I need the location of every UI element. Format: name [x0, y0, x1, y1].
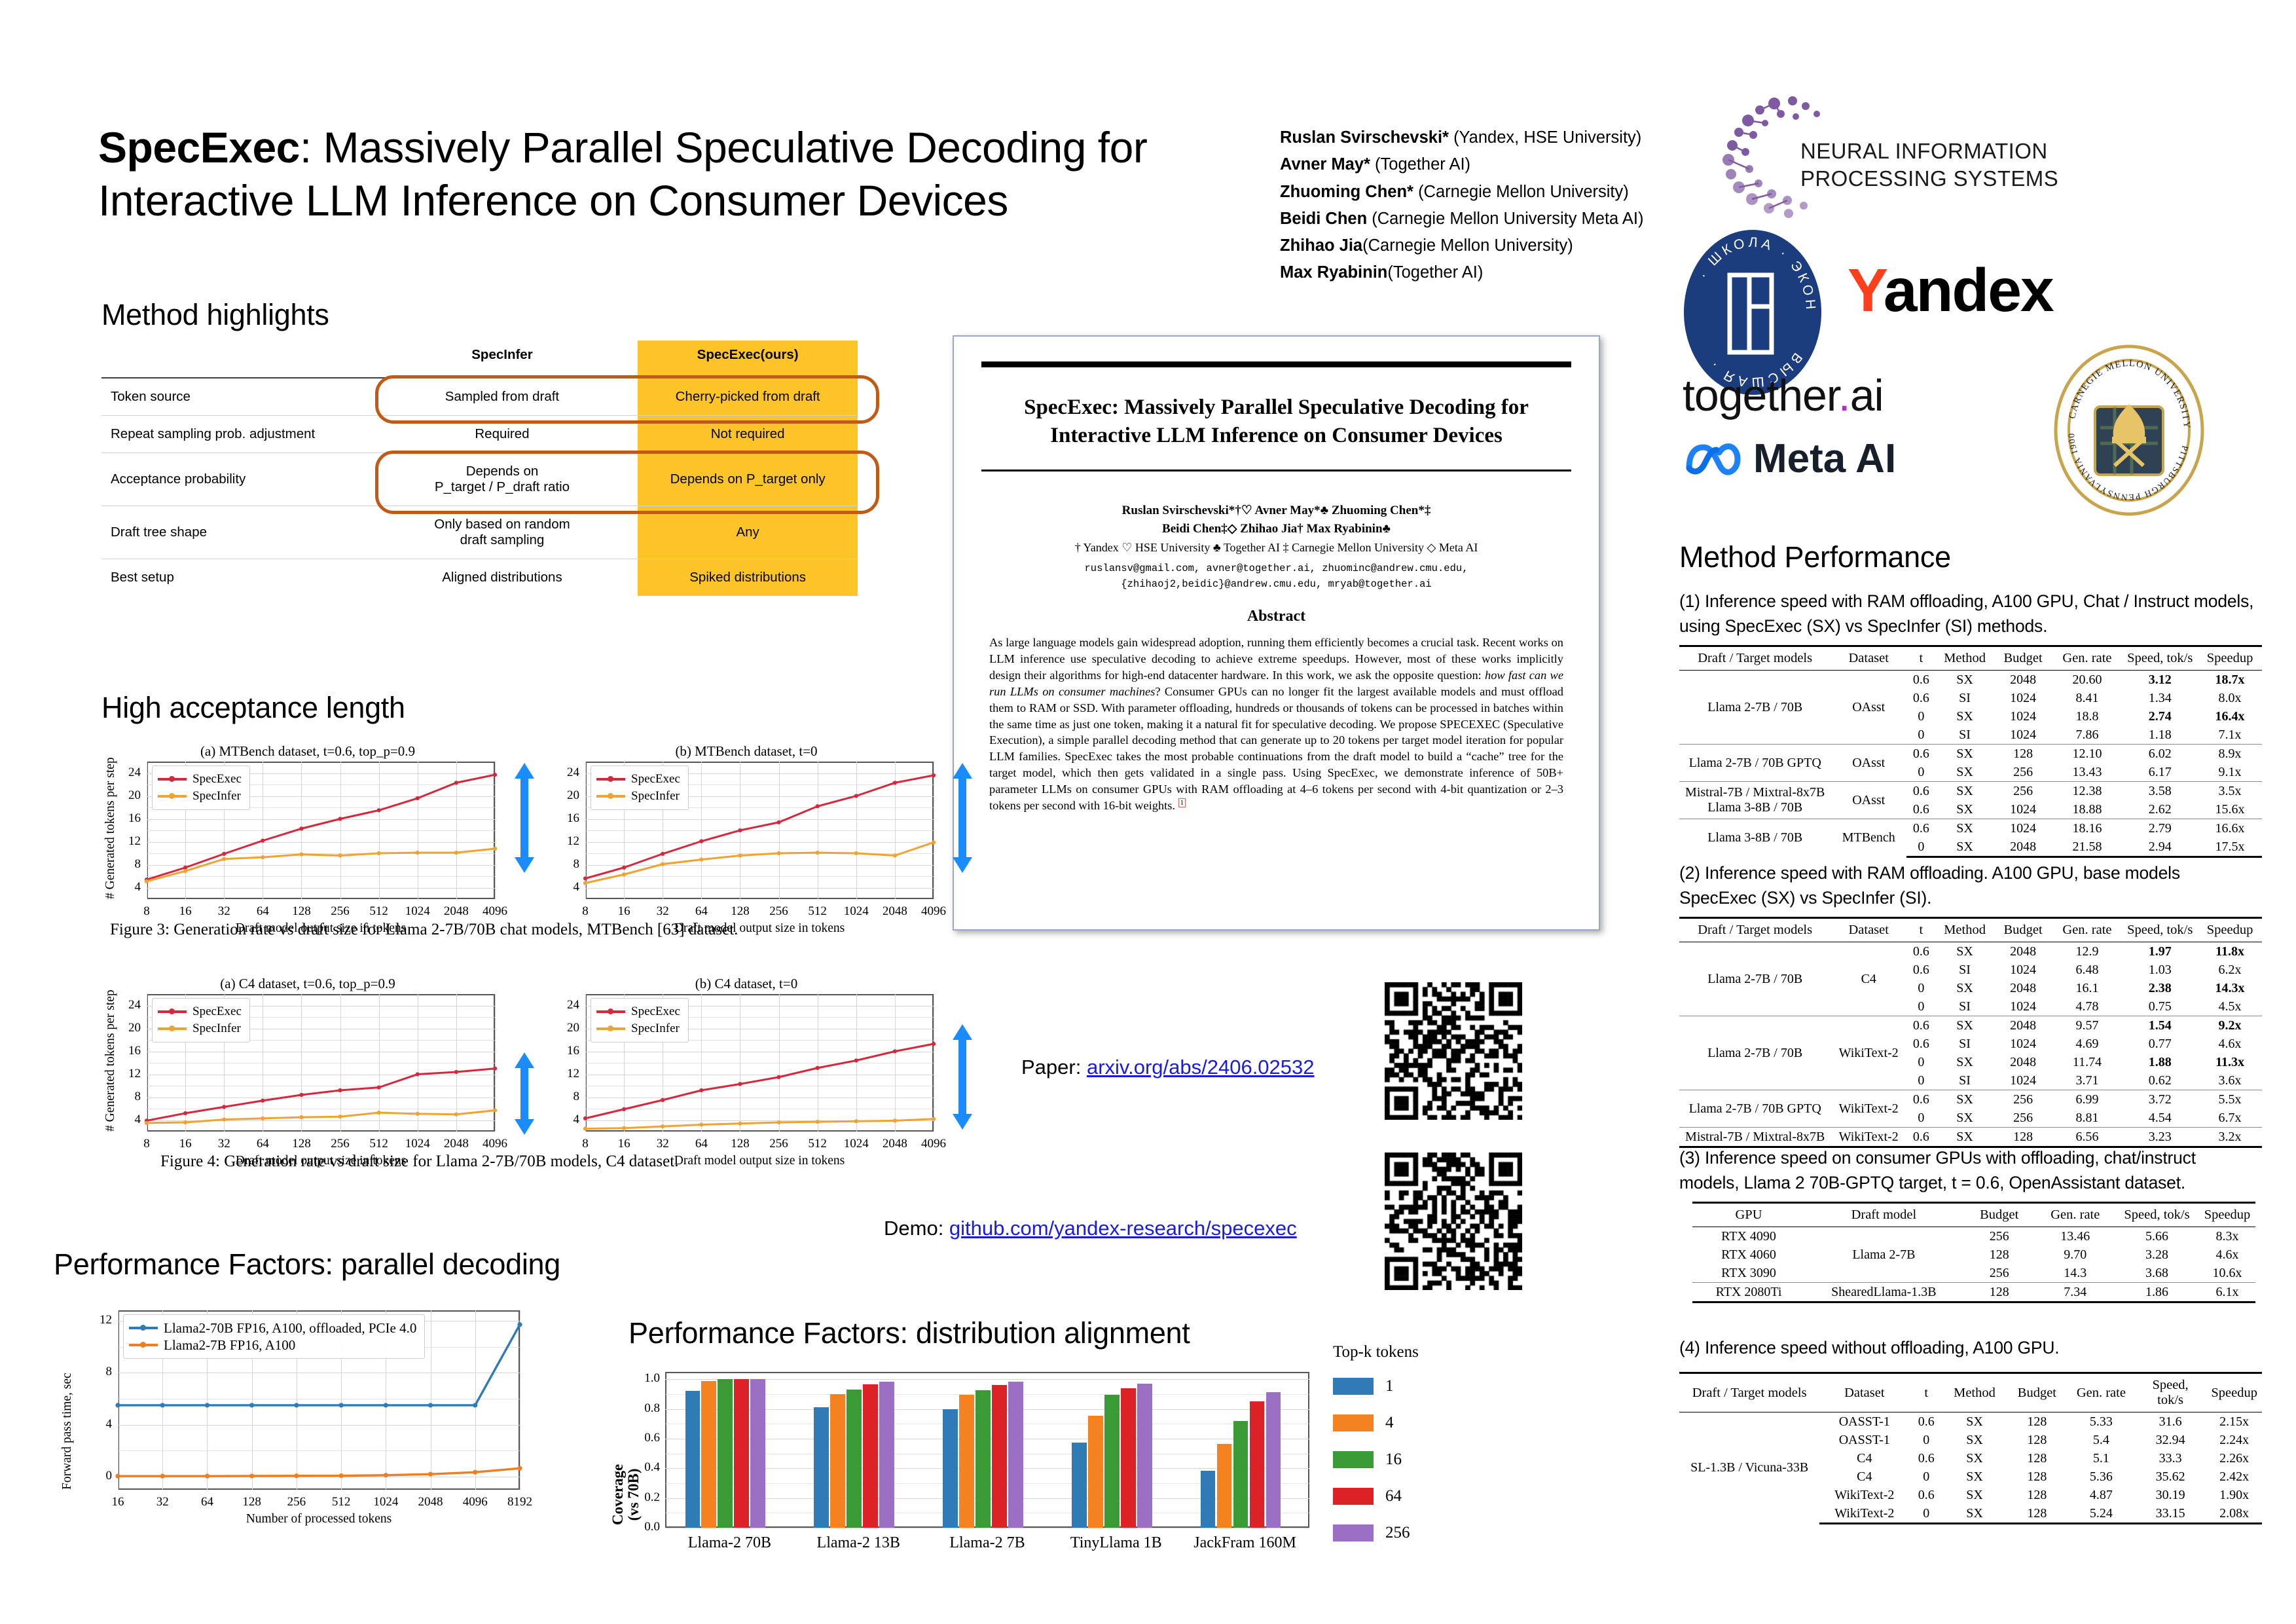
- y-axis-label: Coverage(vs 70B): [610, 1464, 642, 1525]
- column-header: Draft / Target models: [1679, 918, 1831, 942]
- chart-title: (b) C4 dataset, t=0: [550, 976, 943, 992]
- gridline: [934, 762, 934, 899]
- column-header: Speedup: [2198, 646, 2262, 671]
- performance-table: Draft / Target modelsDatasettMethodBudge…: [1679, 917, 2262, 1148]
- gridline: [456, 762, 457, 899]
- gridline: [818, 994, 818, 1132]
- gen-cell: 8.81: [2052, 1109, 2123, 1128]
- speed-cell: 3.28: [2115, 1246, 2199, 1264]
- legend-item: SpecInfer: [596, 788, 680, 805]
- t-cell: 0.6: [1906, 671, 1936, 690]
- speed-cell: 3.68: [2115, 1264, 2199, 1283]
- speed-cell: 2.74: [2122, 707, 2198, 726]
- gridline-minor: [585, 1063, 934, 1063]
- budget-cell: 1024: [1994, 800, 2052, 819]
- model-cell: Llama 2-7B / 70B GPTQ: [1679, 1090, 1831, 1128]
- model-cell: Llama 2-7B / 70B: [1679, 942, 1831, 1016]
- x-tick-label: 256: [758, 1137, 800, 1151]
- method-performance-caption-3: (3) Inference speed on consumer GPUs wit…: [1679, 1146, 2255, 1195]
- gridline-minor: [118, 1399, 520, 1399]
- t-cell: 0.6: [1906, 800, 1936, 819]
- gridline: [379, 762, 380, 899]
- y-tick-label: 16: [550, 1044, 579, 1058]
- x-tick-label: 128: [231, 1495, 273, 1509]
- x-tick-label: Llama-2 7B: [923, 1534, 1052, 1552]
- author-affiliation: (Together AI): [1370, 155, 1470, 174]
- speed-cell: 33.15: [2134, 1504, 2207, 1524]
- method-cell: SI: [1936, 1035, 1994, 1053]
- method-cell: SX: [1936, 1016, 1994, 1035]
- section-heading-perf-parallel: Performance Factors: parallel decoding: [54, 1247, 560, 1282]
- column-header: Method: [1943, 1373, 2006, 1412]
- method-cell: SX: [1936, 1053, 1994, 1071]
- legend-swatch-icon: [129, 1327, 158, 1329]
- legend-label: Llama2-70B FP16, A100, offloaded, PCIe 4…: [164, 1320, 416, 1337]
- table-row: Llama 2-7B / 70BOAsst0.6SX204820.603.121…: [1679, 671, 2262, 690]
- chart-legend: Llama2-70B FP16, A100, offloaded, PCIe 4…: [123, 1314, 425, 1359]
- gridline: [418, 994, 418, 1132]
- bar: [1088, 1416, 1103, 1528]
- column-header: Budget: [1963, 1203, 2036, 1227]
- dataset-cell: OAsst: [1831, 671, 1906, 745]
- speed-cell: 1.18: [2122, 726, 2198, 745]
- demo-link-line: Demo: github.com/yandex-research/specexe…: [884, 1217, 1297, 1240]
- legend-item: SpecInfer: [596, 1020, 680, 1037]
- y-tick-label: 4: [72, 1417, 112, 1431]
- performance-table: Draft / Target modelsDatasettMethodBudge…: [1679, 1372, 2262, 1524]
- t-cell: 0: [1909, 1504, 1943, 1524]
- table-row: Llama 2-7B / 70B GPTQWikiText-20.6SX2566…: [1679, 1090, 2262, 1109]
- speed-cell: 6.02: [2122, 745, 2198, 764]
- author-name: Zhuoming Chen*: [1280, 183, 1413, 201]
- gridline-minor: [118, 1450, 520, 1451]
- column-header: Dataset: [1831, 918, 1906, 942]
- gridline-minor: [147, 830, 495, 831]
- bar: [1008, 1382, 1023, 1528]
- paper-link[interactable]: arxiv.org/abs/2406.02532: [1087, 1056, 1315, 1079]
- mh-cell: Depends onP_target / P_draft ratio: [367, 453, 638, 506]
- blue-double-arrow-icon: [951, 762, 974, 877]
- speed-cell: 2.79: [2122, 819, 2198, 838]
- column-header: Speed, tok/s: [2122, 918, 2198, 942]
- speed-cell: 0.77: [2122, 1035, 2198, 1053]
- legend-item: Llama2-7B FP16, A100: [129, 1337, 416, 1354]
- speedup-cell: 6.2x: [2198, 961, 2262, 979]
- mh-cell: Repeat sampling prob. adjustment: [101, 416, 367, 453]
- paper-rule-mid: [981, 470, 1571, 471]
- performance-table: Draft / Target modelsDatasettMethodBudge…: [1679, 645, 2262, 858]
- author-list: Ruslan Svirschevski* (Yandex, HSE Univer…: [1280, 124, 1705, 287]
- author-entry: Max Ryabinin(Together AI): [1280, 259, 1705, 286]
- table-row: Llama 2-7B / 70BWikiText-20.6SX20489.571…: [1679, 1016, 2262, 1035]
- speedup-cell: 3.6x: [2198, 1071, 2262, 1090]
- yandex-logo: Yandex: [1848, 255, 2053, 325]
- mh-header: SpecInfer: [367, 341, 638, 378]
- meta-infinity-icon: [1684, 441, 1744, 477]
- speedup-cell: 9.1x: [2198, 763, 2262, 782]
- t-cell: 0.6: [1906, 961, 1936, 979]
- budget-cell: 1024: [1994, 1071, 2052, 1090]
- speed-cell: 1.88: [2122, 1053, 2198, 1071]
- x-tick-label: 16: [603, 904, 645, 919]
- gridline: [418, 762, 418, 899]
- x-tick-label: 4096: [913, 1137, 955, 1151]
- bar: [814, 1407, 829, 1528]
- speed-cell: 2.94: [2122, 838, 2198, 857]
- x-tick-label: 16: [97, 1495, 139, 1509]
- dataset-cell: WikiText-2: [1819, 1504, 1909, 1524]
- speedup-cell: 1.90x: [2206, 1486, 2262, 1504]
- gpu-cell: RTX 3090: [1692, 1264, 1805, 1283]
- draft-model-cell: ShearedLlama-1.3B: [1805, 1283, 1963, 1302]
- method-cell: SI: [1936, 1071, 1994, 1090]
- x-tick-label: 64: [242, 1137, 283, 1151]
- chart-parallel-decoding: 048121632641282565121024204840968192Numb…: [72, 1300, 530, 1536]
- legend-label: 64: [1385, 1487, 1402, 1505]
- gpu-cell: RTX 4090: [1692, 1227, 1805, 1246]
- legend-swatch-icon: [158, 1027, 187, 1030]
- legend-swatch-icon: [596, 795, 625, 798]
- gen-cell: 12.9: [2052, 942, 2123, 961]
- x-tick-label: 512: [797, 1137, 839, 1151]
- legend-label: SpecExec: [631, 772, 680, 786]
- model-cell: Llama 2-7B / 70B GPTQ: [1679, 745, 1831, 782]
- speedup-cell: 2.42x: [2206, 1467, 2262, 1486]
- table-row: Mistral-7B / Mixtral-8x7BWikiText-20.6SX…: [1679, 1128, 2262, 1147]
- speedup-cell: 17.5x: [2198, 838, 2262, 857]
- legend-item: 64: [1333, 1478, 1419, 1515]
- budget-cell: 128: [2006, 1467, 2068, 1486]
- legend-label: 1: [1385, 1377, 1394, 1395]
- x-tick-label: 4096: [474, 904, 516, 919]
- method-performance-caption-2: (2) Inference speed with RAM offloading.…: [1679, 861, 2255, 910]
- budget-cell: 2048: [1994, 1016, 2052, 1035]
- dataset-cell: OAsst: [1831, 782, 1906, 819]
- speedup-cell: 11.8x: [2198, 942, 2262, 961]
- legend-label: SpecExec: [192, 1005, 242, 1019]
- budget-cell: 1024: [1994, 997, 2052, 1016]
- x-tick-label: 8: [126, 1137, 168, 1151]
- speedup-cell: 8.3x: [2199, 1227, 2255, 1246]
- gridline: [585, 1075, 934, 1075]
- gridline: [895, 994, 896, 1132]
- t-cell: 0.6: [1906, 1128, 1936, 1147]
- paper-qr-code[interactable]: [1385, 982, 1522, 1120]
- legend-swatch-icon: [596, 1027, 625, 1030]
- legend-item: SpecExec: [596, 1003, 680, 1020]
- gridline: [779, 762, 780, 899]
- table-row: Best setupAligned distributionsSpiked di…: [101, 559, 858, 597]
- gen-cell: 12.10: [2052, 745, 2123, 764]
- column-header: Speed, tok/s: [2115, 1203, 2199, 1227]
- demo-qr-code[interactable]: [1385, 1153, 1522, 1290]
- x-tick-label: 256: [276, 1495, 318, 1509]
- table-row: Mistral-7B / Mixtral-8x7BLlama 3-8B / 70…: [1679, 782, 2262, 801]
- x-tick-label: 1024: [835, 1137, 877, 1151]
- dataset-cell: C4: [1819, 1449, 1909, 1467]
- column-header: Method: [1936, 918, 1994, 942]
- method-cell: SI: [1936, 961, 1994, 979]
- gridline: [147, 1075, 495, 1075]
- author-name: Ruslan Svirschevski*: [1280, 128, 1449, 147]
- t-cell: 0: [1906, 726, 1936, 745]
- gen-cell: 21.58: [2052, 838, 2123, 857]
- gridline: [740, 994, 740, 1132]
- author-affiliation: (Carnegie Mellon University): [1362, 236, 1573, 255]
- speed-cell: 1.03: [2122, 961, 2198, 979]
- x-tick-label: 32: [203, 1137, 245, 1151]
- gridline: [665, 1528, 1309, 1528]
- budget-cell: 128: [1994, 745, 2052, 764]
- gen-cell: 5.36: [2068, 1467, 2134, 1486]
- column-header: t: [1909, 1373, 1943, 1412]
- x-tick-label: 16: [164, 904, 206, 919]
- gen-cell: 12.38: [2052, 782, 2123, 801]
- demo-link[interactable]: github.com/yandex-research/specexec: [949, 1217, 1297, 1240]
- mh-cell: Aligned distributions: [367, 559, 638, 597]
- speed-cell: 33.3: [2134, 1449, 2207, 1467]
- speedup-cell: 3.2x: [2198, 1128, 2262, 1147]
- budget-cell: 1024: [1994, 707, 2052, 726]
- mh-cell: Cherry-picked from draft: [638, 378, 858, 416]
- method-cell: SX: [1943, 1504, 2006, 1524]
- bar: [1072, 1443, 1087, 1528]
- bar: [718, 1379, 733, 1528]
- column-header: Dataset: [1831, 646, 1906, 671]
- cmu-logo-icon: CARNEGIE MELLON UNIVERSITY PITTSBURGH PE…: [2052, 344, 2206, 517]
- budget-cell: 128: [2006, 1412, 2068, 1431]
- gridline-minor: [147, 1063, 495, 1063]
- speedup-cell: 9.2x: [2198, 1016, 2262, 1035]
- dataset-cell: OAsst: [1831, 745, 1906, 782]
- gridline: [856, 994, 857, 1132]
- abstract-text: As large language models gain widespread…: [989, 635, 1563, 814]
- y-tick-label: 12: [550, 1067, 579, 1081]
- x-tick-label: 64: [680, 904, 722, 919]
- speedup-cell: 10.6x: [2199, 1264, 2255, 1283]
- column-header: t: [1906, 918, 1936, 942]
- x-tick-label: 32: [642, 1137, 683, 1151]
- y-tick-label: 12: [550, 834, 579, 849]
- column-header: t: [1906, 646, 1936, 671]
- x-tick-label: 32: [203, 904, 245, 919]
- gridline: [340, 994, 341, 1132]
- gen-cell: 5.1: [2068, 1449, 2134, 1467]
- budget-cell: 128: [1963, 1283, 2036, 1302]
- model-cell: Mistral-7B / Mixtral-8x7B: [1679, 1128, 1831, 1147]
- mh-cell: Acceptance probability: [101, 453, 367, 506]
- column-header: Gen. rate: [2068, 1373, 2134, 1412]
- budget-cell: 128: [1994, 1128, 2052, 1147]
- column-header: Budget: [1994, 918, 2052, 942]
- t-cell: 0: [1906, 979, 1936, 997]
- speedup-cell: 4.5x: [2198, 997, 2262, 1016]
- gen-cell: 7.34: [2036, 1283, 2115, 1302]
- column-header: Speedup: [2198, 918, 2262, 942]
- bar: [750, 1379, 765, 1528]
- legend-swatch-icon: [1333, 1451, 1374, 1468]
- bar: [879, 1382, 894, 1528]
- speed-cell: 0.75: [2122, 997, 2198, 1016]
- paper-link-prefix: Paper:: [1021, 1056, 1087, 1079]
- legend-item: SpecInfer: [158, 788, 242, 805]
- mh-cell: Only based on randomdraft sampling: [367, 506, 638, 559]
- author-entry: Zhuoming Chen* (Carnegie Mellon Universi…: [1280, 179, 1705, 206]
- dataset-cell: C4: [1831, 942, 1906, 1016]
- method-cell: SX: [1936, 763, 1994, 782]
- speed-cell: 3.72: [2122, 1090, 2198, 1109]
- model-cell: Llama 2-7B / 70B: [1679, 671, 1831, 745]
- author-entry: Ruslan Svirschevski* (Yandex, HSE Univer…: [1280, 124, 1705, 151]
- y-tick-label: 24: [550, 998, 579, 1012]
- bar: [863, 1384, 878, 1528]
- gridline: [118, 1477, 520, 1477]
- legend-label: SpecInfer: [631, 1022, 680, 1036]
- gridline: [585, 762, 586, 899]
- speedup-cell: 5.5x: [2198, 1090, 2262, 1109]
- speedup-cell: 7.1x: [2198, 726, 2262, 745]
- table-row: Llama 3-8B / 70BMTBench0.6SX102418.162.7…: [1679, 819, 2262, 838]
- method-performance-caption-1: (1) Inference speed with RAM offloading,…: [1679, 589, 2255, 638]
- legend-item: SpecExec: [158, 771, 242, 788]
- gridline: [379, 994, 380, 1132]
- x-tick-label: 256: [758, 904, 800, 919]
- legend-label: 4: [1385, 1414, 1394, 1432]
- method-cell: SX: [1943, 1486, 2006, 1504]
- method-cell: SX: [1936, 782, 1994, 801]
- budget-cell: 128: [1963, 1246, 2036, 1264]
- legend-swatch-icon: [158, 1010, 187, 1013]
- x-tick-label: 2048: [874, 904, 916, 919]
- budget-cell: 256: [1963, 1264, 2036, 1283]
- speedup-cell: 4.6x: [2198, 1035, 2262, 1053]
- gridline: [147, 994, 147, 1132]
- budget-cell: 2048: [1994, 1053, 2052, 1071]
- author-affiliation: (Carnegie Mellon University): [1413, 183, 1629, 201]
- gen-cell: 13.43: [2052, 763, 2123, 782]
- legend-title: Top-k tokens: [1333, 1343, 1419, 1361]
- dataset-cell: WikiText-2: [1831, 1128, 1906, 1147]
- mh-cell: Spiked distributions: [638, 559, 858, 597]
- bar: [975, 1390, 991, 1528]
- speedup-cell: 8.9x: [2198, 745, 2262, 764]
- gridline: [585, 994, 586, 1132]
- gen-cell: 20.60: [2052, 671, 2123, 690]
- gridline: [585, 888, 934, 889]
- column-header: Speedup: [2199, 1203, 2255, 1227]
- gridline-minor: [585, 830, 934, 831]
- gridline: [147, 1052, 495, 1052]
- dataset-cell: OASST-1: [1819, 1431, 1909, 1449]
- speedup-cell: 18.7x: [2198, 671, 2262, 690]
- mh-header: SpecExec(ours): [638, 341, 858, 378]
- bar: [992, 1385, 1007, 1528]
- speed-cell: 5.66: [2115, 1227, 2199, 1246]
- gen-cell: 13.46: [2036, 1227, 2115, 1246]
- gen-cell: 7.86: [2052, 726, 2123, 745]
- gen-cell: 5.4: [2068, 1431, 2134, 1449]
- yandex-y-icon: Y: [1848, 256, 1884, 324]
- budget-cell: 1024: [1994, 1035, 2052, 1053]
- y-tick-label: 24: [550, 766, 579, 780]
- column-header: Speed, tok/s: [2122, 646, 2198, 671]
- speedup-cell: 15.6x: [2198, 800, 2262, 819]
- table-row: Token sourceSampled from draftCherry-pic…: [101, 378, 858, 416]
- x-tick-label: 1024: [397, 1137, 439, 1151]
- legend-label: 16: [1385, 1450, 1402, 1469]
- method-performance-table-2: Draft / Target modelsDatasettMethodBudge…: [1679, 917, 2262, 1148]
- speed-cell: 3.23: [2122, 1128, 2198, 1147]
- t-cell: 0.6: [1906, 1035, 1936, 1053]
- draft-model-cell: Llama 2-7B: [1805, 1227, 1963, 1283]
- speedup-cell: 3.5x: [2198, 782, 2262, 801]
- table-row: SL-1.3B / Vicuna-33BOASST-10.6SX1285.333…: [1679, 1412, 2262, 1431]
- legend-swatch-icon: [1333, 1488, 1374, 1505]
- gen-cell: 18.16: [2052, 819, 2123, 838]
- chart-legend: Top-k tokens141664256: [1333, 1343, 1419, 1551]
- t-cell: 0.6: [1909, 1449, 1943, 1467]
- mh-cell: Best setup: [101, 559, 367, 597]
- y-tick-label: 0.8: [631, 1401, 660, 1416]
- speedup-cell: 6.7x: [2198, 1109, 2262, 1128]
- speedup-cell: 14.3x: [2198, 979, 2262, 997]
- author-affiliation: (Together AI): [1387, 263, 1483, 282]
- gridline: [779, 994, 780, 1132]
- dataset-cell: MTBench: [1831, 819, 1906, 857]
- legend-item: SpecExec: [158, 1003, 242, 1020]
- x-tick-label: Llama-2 13B: [794, 1534, 923, 1552]
- gridline: [740, 762, 740, 899]
- t-cell: 0: [1906, 997, 1936, 1016]
- gridline: [431, 1310, 431, 1490]
- speed-cell: 35.62: [2134, 1467, 2207, 1486]
- gridline: [585, 1052, 934, 1052]
- speedup-cell: 6.1x: [2199, 1283, 2255, 1302]
- gridline: [475, 1310, 476, 1490]
- budget-cell: 1024: [1994, 819, 2052, 838]
- gridline: [934, 994, 934, 1132]
- column-header: Draft model: [1805, 1203, 1963, 1227]
- gen-cell: 9.70: [2036, 1246, 2115, 1264]
- table-row: RTX 309025614.33.6810.6x: [1692, 1264, 2255, 1283]
- budget-cell: 2048: [1994, 838, 2052, 857]
- gen-cell: 9.57: [2052, 1016, 2123, 1035]
- gen-cell: 18.8: [2052, 707, 2123, 726]
- t-cell: 0.6: [1906, 1016, 1936, 1035]
- column-header: Gen. rate: [2052, 646, 2123, 671]
- bar: [1217, 1444, 1232, 1528]
- section-heading-perf-distribution: Performance Factors: distribution alignm…: [629, 1316, 1190, 1350]
- speed-cell: 2.38: [2122, 979, 2198, 997]
- speedup-cell: 16.4x: [2198, 707, 2262, 726]
- dataset-cell: WikiText-2: [1831, 1016, 1906, 1090]
- budget-cell: 128: [2006, 1449, 2068, 1467]
- legend-label: Llama2-7B FP16, A100: [164, 1337, 295, 1354]
- bar: [959, 1395, 974, 1528]
- gridline-minor: [585, 853, 934, 854]
- legend-item: SpecExec: [596, 771, 680, 788]
- column-header: Budget: [1994, 646, 2052, 671]
- t-cell: 0.6: [1906, 782, 1936, 801]
- method-cell: SX: [1943, 1412, 2006, 1431]
- chart-legend: SpecExecSpecInfer: [591, 766, 689, 810]
- chart-fig3a: (a) MTBench dataset, t=0.6, top_p=0.9481…: [111, 743, 504, 940]
- gridline: [585, 1120, 934, 1121]
- speed-cell: 4.54: [2122, 1109, 2198, 1128]
- speedup-cell: 2.24x: [2206, 1431, 2262, 1449]
- section-heading-high-acceptance: High acceptance length: [101, 691, 405, 725]
- method-performance-table-1: Draft / Target modelsDatasettMethodBudge…: [1679, 645, 2262, 858]
